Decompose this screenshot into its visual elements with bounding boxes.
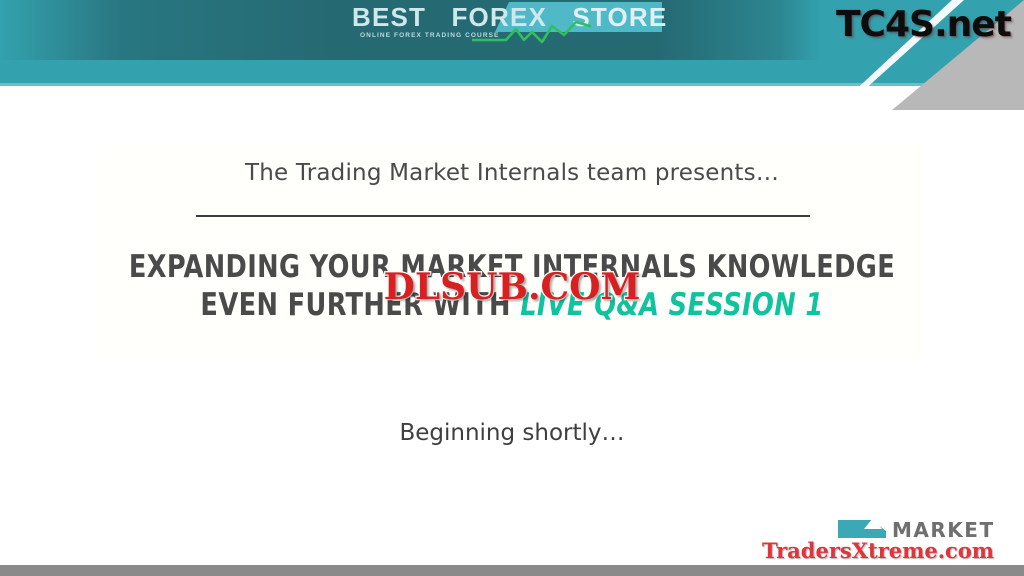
header-bottom-edge [0,83,1024,86]
dlsub-watermark: DLSUB.COM [0,266,1024,308]
bottom-gray-bar [0,565,1024,576]
slide-presents-line: The Trading Market Internals team presen… [0,160,1024,186]
slide-divider-rule [196,215,810,217]
tradersxtreme-watermark: TradersXtreme.com [762,538,994,563]
video-frame: BEST FOREX STORE ONLINE FOREX TRADING CO… [0,0,1024,576]
arrow-up-icon [864,518,882,529]
tc4s-watermark: TC4S.net [836,4,1011,45]
best-forex-store-logo[interactable]: BEST FOREX STORE ONLINE FOREX TRADING CO… [352,2,662,46]
slide-status-text: Beginning shortly… [0,420,1024,446]
logo-tagline: ONLINE FOREX TRADING COURSE [360,32,499,39]
logo-word-best: BEST [352,2,426,32]
